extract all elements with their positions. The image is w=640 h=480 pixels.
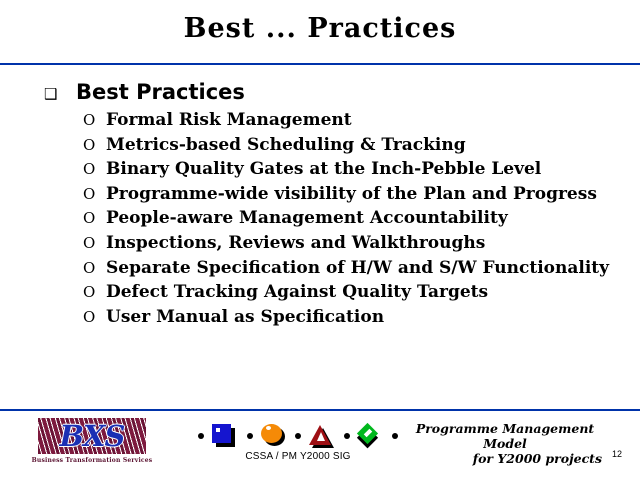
list-item-label: People-aware Management Accountability xyxy=(106,208,508,228)
list-item: O People-aware Management Accountability xyxy=(83,208,624,233)
list-item-label: Separate Specification of H/W and S/W Fu… xyxy=(106,258,609,278)
heading-bullet-row: ❑ Best Practices xyxy=(44,80,624,104)
bullet-list: O Formal Risk Management O Metrics-based… xyxy=(83,110,624,331)
model-title-line2: for Y2000 projects xyxy=(400,451,610,466)
sig-caption: CSSA / PM Y2000 SIG xyxy=(198,451,398,462)
list-item: O Inspections, Reviews and Walkthroughs xyxy=(83,233,624,258)
blue-square-highlight xyxy=(216,428,220,432)
dot-icon xyxy=(344,433,350,439)
list-item-label: User Manual as Specification xyxy=(106,307,384,327)
list-item: O Separate Specification of H/W and S/W … xyxy=(83,258,624,283)
slide-footer: BXS Business Transformation Services xyxy=(0,411,640,480)
dot-icon xyxy=(247,433,253,439)
slide-body: ❑ Best Practices O Formal Risk Managemen… xyxy=(44,80,624,331)
list-item-label: Programme-wide visibility of the Plan an… xyxy=(106,184,597,204)
blue-square-icon xyxy=(212,423,238,449)
list-item: O Binary Quality Gates at the Inch-Pebbl… xyxy=(83,159,624,184)
model-title-line1: Programme Management Model xyxy=(416,421,594,451)
model-title: Programme Management Model for Y2000 pro… xyxy=(400,421,610,466)
bxs-logo: BXS Business Transformation Services xyxy=(22,418,162,464)
circle-outline-bullet-icon: O xyxy=(83,234,106,252)
blue-square-shape xyxy=(212,424,231,443)
orange-sphere-shape xyxy=(261,424,282,443)
red-triangle-icon xyxy=(309,423,335,449)
green-diamond-icon xyxy=(358,423,384,449)
circle-outline-bullet-icon: O xyxy=(83,259,106,277)
slide-canvas: Best ... Practices ❑ Best Practices O Fo… xyxy=(0,0,640,480)
list-item-label: Formal Risk Management xyxy=(106,110,352,130)
list-item: O Programme-wide visibility of the Plan … xyxy=(83,184,624,209)
bxs-logo-letters: BXS xyxy=(38,418,146,454)
list-item: O Metrics-based Scheduling & Tracking xyxy=(83,135,624,160)
footer-icon-strip xyxy=(198,423,398,449)
page-title: Best ... Practices xyxy=(0,13,640,44)
red-triangle-highlight xyxy=(317,432,325,441)
circle-outline-bullet-icon: O xyxy=(83,209,106,227)
circle-outline-bullet-icon: O xyxy=(83,185,106,203)
list-item: O Defect Tracking Against Quality Target… xyxy=(83,282,624,307)
circle-outline-bullet-icon: O xyxy=(83,308,106,326)
list-item: O Formal Risk Management xyxy=(83,110,624,135)
circle-outline-bullet-icon: O xyxy=(83,111,106,129)
heading-label: Best Practices xyxy=(76,80,245,104)
square-outline-bullet-icon: ❑ xyxy=(44,87,76,102)
circle-outline-bullet-icon: O xyxy=(83,160,106,178)
title-divider-rule xyxy=(0,63,640,65)
dot-icon xyxy=(295,433,301,439)
page-number: 12 xyxy=(612,449,622,459)
orange-sphere-icon xyxy=(261,423,287,449)
list-item-label: Defect Tracking Against Quality Targets xyxy=(106,282,488,302)
circle-outline-bullet-icon: O xyxy=(83,136,106,154)
orange-sphere-highlight xyxy=(266,426,271,430)
circle-outline-bullet-icon: O xyxy=(83,283,106,301)
dot-icon xyxy=(198,433,204,439)
list-item-label: Inspections, Reviews and Walkthroughs xyxy=(106,233,485,253)
bxs-logo-mark: BXS xyxy=(38,418,146,454)
bxs-logo-tagline: Business Transformation Services xyxy=(22,457,162,464)
list-item-label: Binary Quality Gates at the Inch-Pebble … xyxy=(106,159,541,179)
dot-icon xyxy=(392,433,398,439)
list-item-label: Metrics-based Scheduling & Tracking xyxy=(106,135,466,155)
list-item: O User Manual as Specification xyxy=(83,307,624,332)
